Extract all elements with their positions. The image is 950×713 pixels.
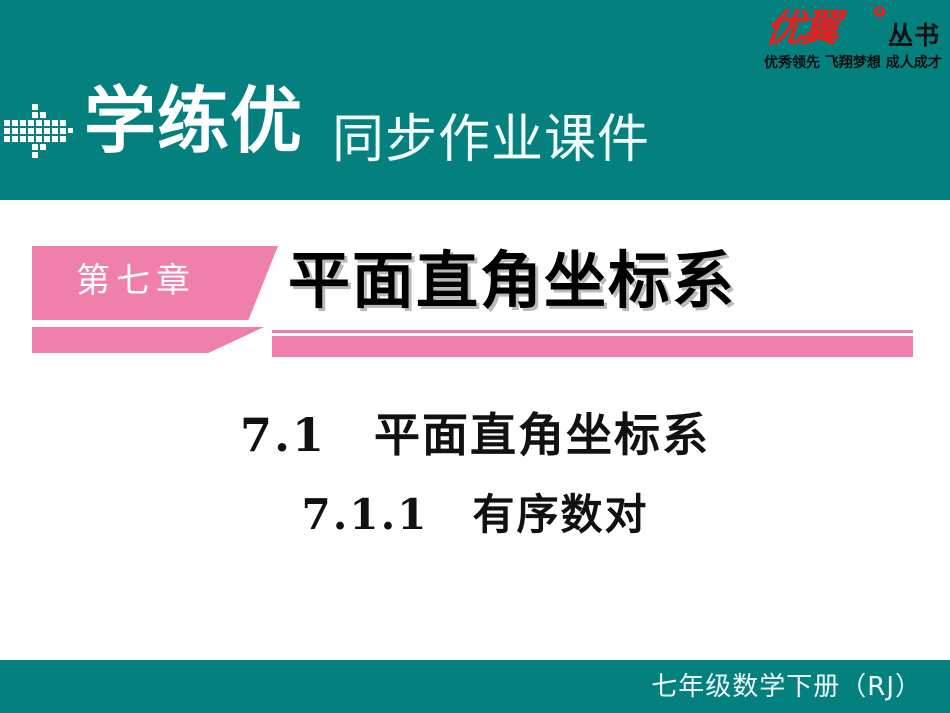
publisher-tagline: 优秀领先 飞翔梦想 成人成才 (764, 54, 942, 72)
presentation-slide: 学练优 同步作业课件 优翼 R 丛书 优秀领先 飞翔梦想 成人成才 第七章 平面… (0, 0, 950, 713)
publisher-series-label: 丛书 (888, 22, 940, 50)
footer-text: 七年级数学下册（RJ） (651, 671, 922, 703)
publisher-logo-mark: 优翼 (763, 8, 841, 48)
publisher-logo: 优翼 R 丛书 优秀领先 飞翔梦想 成人成才 (762, 6, 942, 78)
pixel-arrow-right-icon (4, 98, 82, 162)
header-band: 学练优 同步作业课件 优翼 R 丛书 优秀领先 飞翔梦想 成人成才 (0, 0, 950, 200)
section-title: 7.1 平面直角坐标系 (0, 405, 950, 465)
chapter-title: 平面直角坐标系 (288, 243, 736, 319)
chapter-title-hairline (272, 330, 913, 333)
brand-subtitle: 同步作业课件 (332, 112, 650, 168)
registered-trademark-icon: R (874, 6, 885, 17)
subsection-title: 7.1.1 有序数对 (0, 487, 950, 543)
chapter-title-underbar (272, 336, 913, 357)
chapter-label: 第七章 (36, 258, 236, 304)
brand-title: 学练优 (84, 82, 303, 160)
footer-band: 七年级数学下册（RJ） (0, 660, 950, 713)
chapter-banner-underbar (32, 327, 264, 353)
